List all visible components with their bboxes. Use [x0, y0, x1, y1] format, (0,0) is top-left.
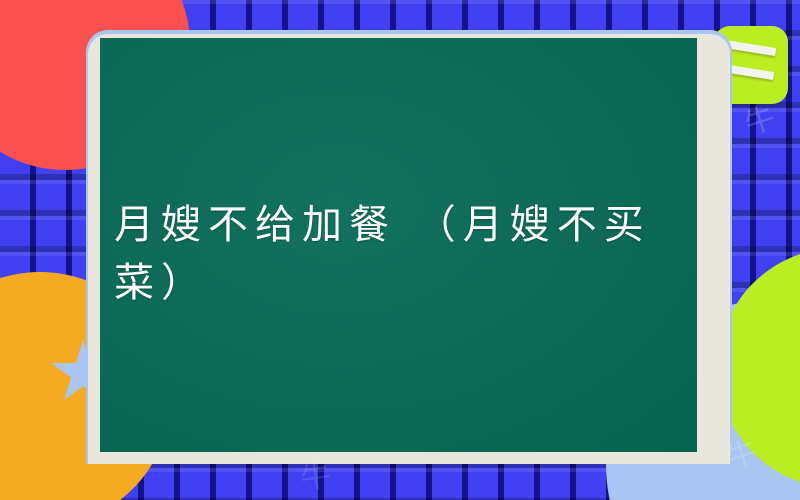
poster-canvas: 月嫂不给加餐 （月嫂不买菜） 牛 牛 牛 [0, 0, 800, 500]
headline-text: 月嫂不给加餐 （月嫂不买菜） [114, 196, 684, 312]
